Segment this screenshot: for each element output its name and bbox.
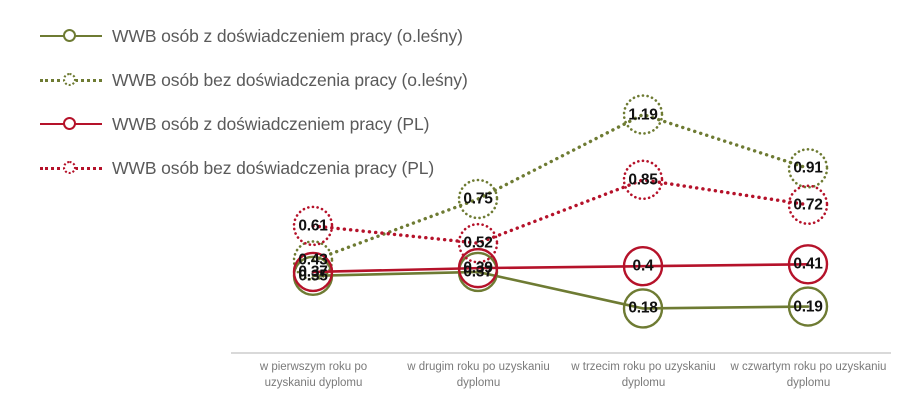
category-axis-line xyxy=(231,352,891,354)
legend-item-red-solid[interactable]: WWB osób z doświadczeniem pracy (PL) xyxy=(40,102,560,146)
data-label: 0.85 xyxy=(628,172,657,188)
data-label: 0.72 xyxy=(793,197,822,213)
legend-item-red-dotted[interactable]: WWB osób bez doświadczenia pracy (PL) xyxy=(40,146,560,190)
category-label: w trzecim roku po uzyskaniu dyplomu xyxy=(561,360,726,391)
legend-item-label: WWB osób bez doświadczenia pracy (o.leśn… xyxy=(102,70,468,91)
data-label: 0.61 xyxy=(298,218,327,234)
legend-item-label: WWB osób bez doświadczenia pracy (PL) xyxy=(102,158,434,179)
data-label: 0.91 xyxy=(793,161,822,177)
legend-item-green-dotted[interactable]: WWB osób bez doświadczenia pracy (o.leśn… xyxy=(40,58,560,102)
series-line-green_solid xyxy=(313,272,808,308)
dotted-line-circle-marker-icon xyxy=(40,158,102,178)
line-circle-marker-icon xyxy=(40,114,102,134)
line-circle-marker-icon xyxy=(40,26,102,46)
legend-item-label: WWB osób z doświadczeniem pracy (o.leśny… xyxy=(102,26,463,47)
category-label: w czwartym roku po uzyskaniu dyplomu xyxy=(726,360,891,391)
category-label: w drugim roku po uzyskaniu dyplomu xyxy=(396,360,561,391)
legend-item-green-solid[interactable]: WWB osób z doświadczeniem pracy (o.leśny… xyxy=(40,14,560,58)
data-label: 0.19 xyxy=(793,299,822,315)
category-axis-labels: w pierwszym roku po uzyskaniu dyplomu w … xyxy=(231,360,891,391)
data-label: 0.52 xyxy=(463,235,492,251)
data-label: 0.37 xyxy=(298,264,327,280)
data-label: 0.4 xyxy=(633,258,654,274)
data-label: 1.19 xyxy=(628,107,657,123)
legend-item-label: WWB osób z doświadczeniem pracy (PL) xyxy=(102,114,429,135)
data-label: 0.41 xyxy=(793,257,822,273)
data-label: 0.75 xyxy=(463,191,492,207)
data-label: 0.39 xyxy=(463,260,492,276)
dotted-line-circle-marker-icon xyxy=(40,70,102,90)
category-label: w pierwszym roku po uzyskaniu dyplomu xyxy=(231,360,396,391)
series-line-red_solid xyxy=(313,264,808,272)
chart-legend: WWB osób z doświadczeniem pracy (o.leśny… xyxy=(40,14,560,190)
data-label: 0.18 xyxy=(628,301,657,317)
